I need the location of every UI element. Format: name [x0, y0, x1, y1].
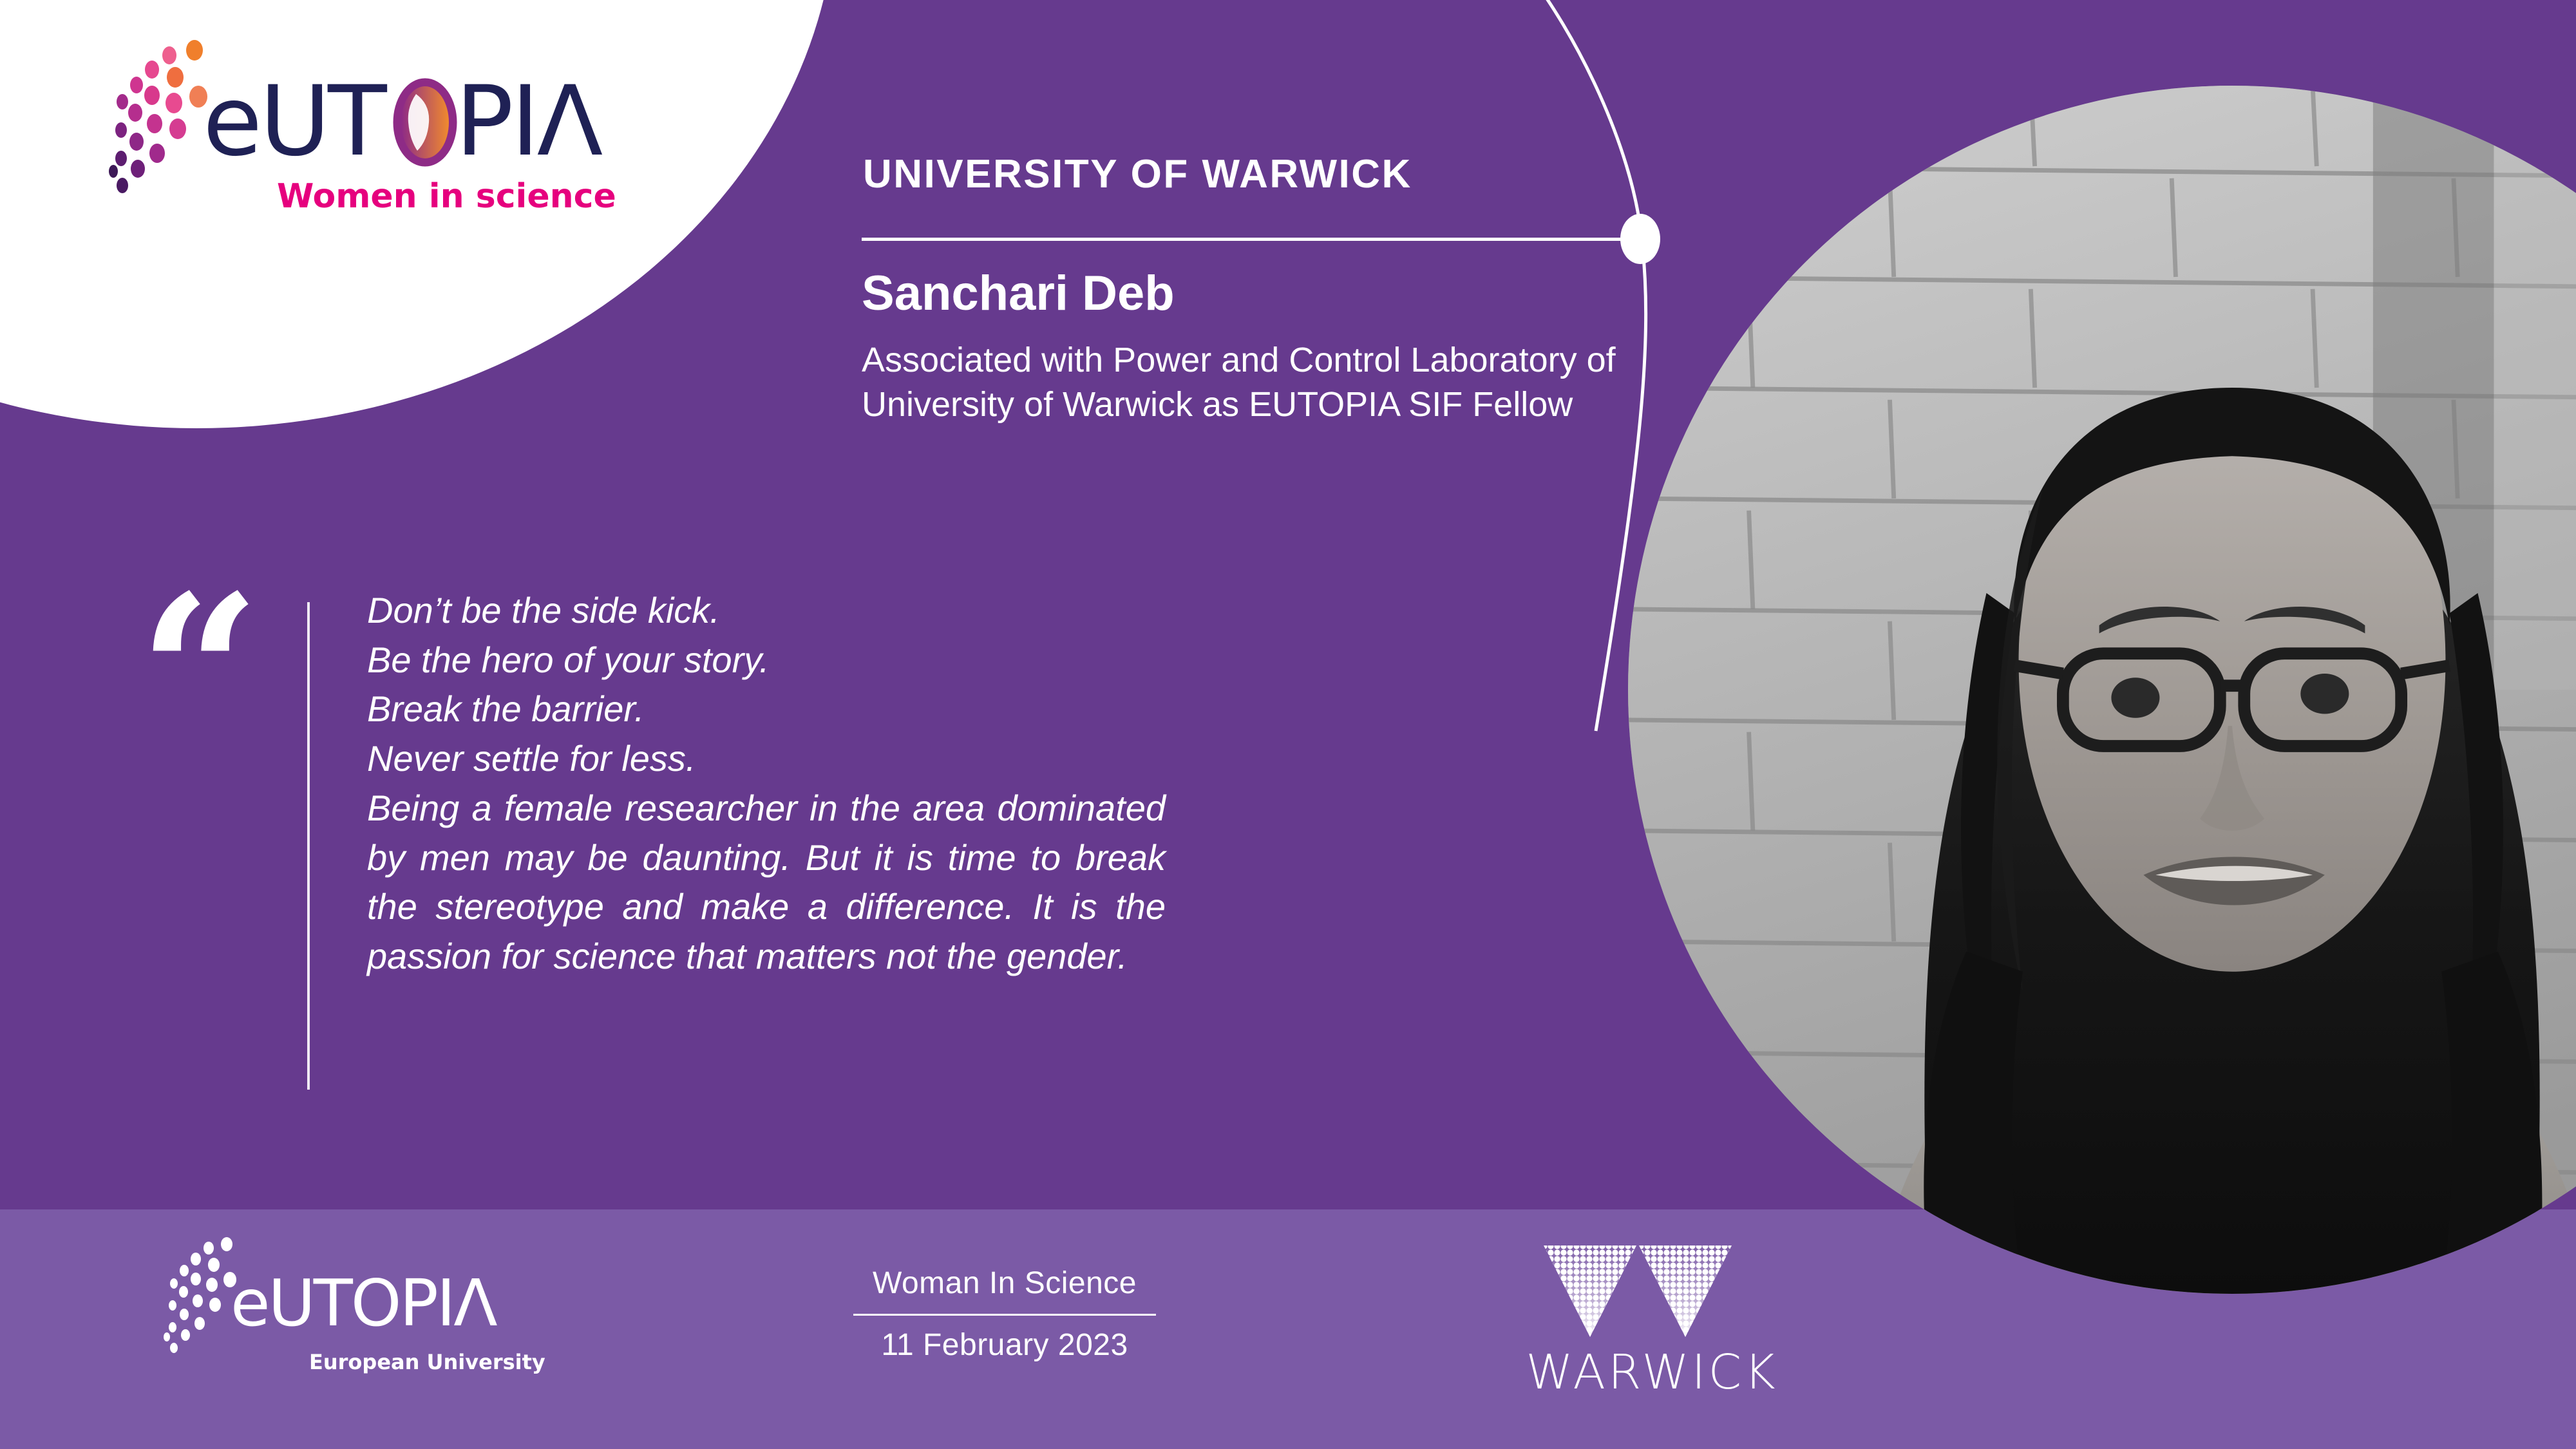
eutopia-header-logo: eUT PIΛ Women in science	[97, 39, 625, 219]
svg-text:eUT: eUT	[203, 72, 388, 178]
quote-vertical-rule	[307, 602, 310, 1090]
warwick-w-icon	[1541, 1243, 1734, 1340]
event-date: 11 February 2023	[837, 1327, 1172, 1363]
eutopia-wordmark: eUT PIΛ	[203, 72, 615, 194]
svg-text:eUTOPIΛ: eUTOPIΛ	[231, 1269, 497, 1341]
eutopia-tagline: Women in science	[277, 177, 616, 216]
quote-paragraph: Being a female researcher in the area do…	[367, 784, 1166, 981]
eutopia-footer-logo: eUTOPIΛ European University	[155, 1235, 605, 1416]
eutopia-wordmark: eUTOPIΛ	[231, 1269, 514, 1351]
quote-line-4: Never settle for less.	[367, 734, 1166, 784]
person-name: Sanchari Deb	[862, 265, 1175, 321]
svg-text:PIΛ: PIΛ	[455, 72, 603, 178]
quote-line-2: Be the hero of your story.	[367, 636, 1166, 685]
poster-canvas: eUT PIΛ Women in science UNIVERSITY OF W…	[0, 0, 2576, 1449]
quote-line-1: Don’t be the side kick.	[367, 586, 1166, 636]
quote-open-mark: “	[138, 567, 261, 779]
event-name: Woman In Science	[837, 1265, 1172, 1301]
warwick-wordmark: WARWICK	[1517, 1345, 1787, 1400]
quote-line-3: Break the barrier.	[367, 685, 1166, 734]
eutopia-footer-subtitle: European University	[309, 1350, 545, 1374]
quote-text: Don’t be the side kick. Be the hero of y…	[367, 586, 1166, 981]
warwick-logo: WARWICK	[1517, 1243, 1787, 1430]
university-title: UNIVERSITY OF WARWICK	[863, 151, 1412, 197]
event-divider	[853, 1314, 1156, 1316]
event-info: Woman In Science 11 February 2023	[837, 1265, 1172, 1363]
connector-node-dot	[1620, 214, 1660, 264]
